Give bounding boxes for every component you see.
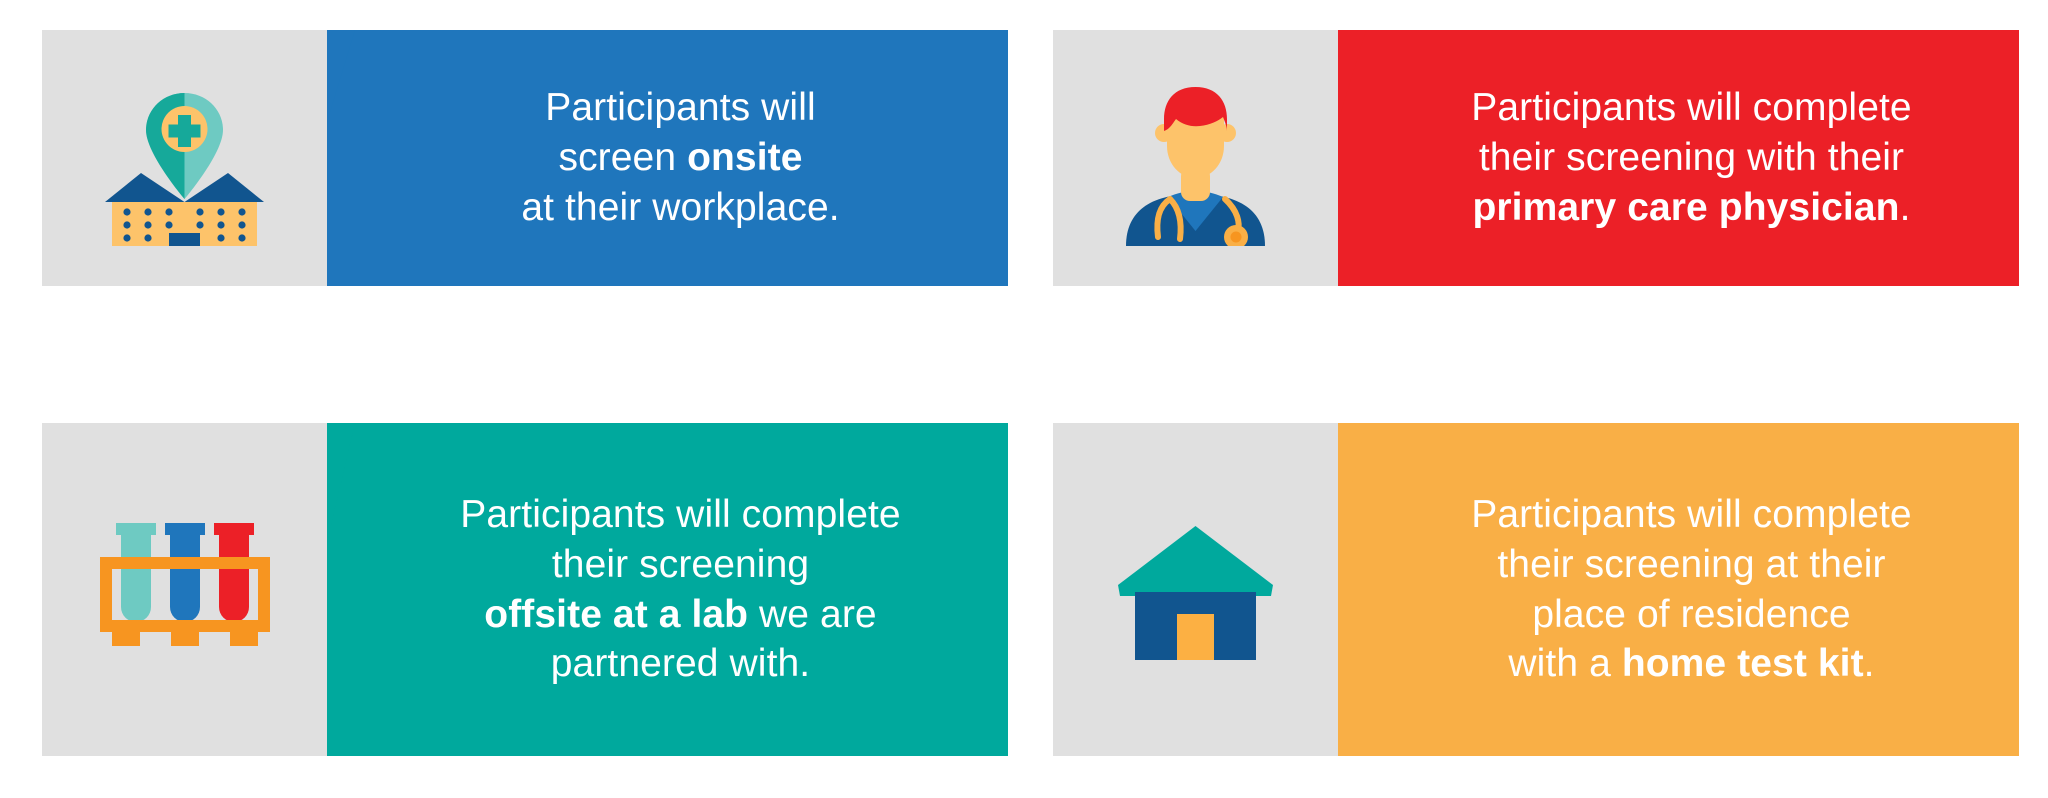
plain-text: their screening at their	[1497, 543, 1885, 586]
card-text-line: offsite at a lab we are	[460, 590, 900, 640]
icon-pane-offsite-lab	[42, 423, 327, 756]
icon-pane-onsite-workplace	[42, 30, 327, 286]
card-text-line: primary care physician.	[1471, 183, 1911, 233]
plain-text: partnered with.	[551, 642, 810, 685]
card-text-line: at their workplace.	[521, 183, 839, 233]
doctor-icon	[1108, 71, 1283, 246]
info-card-grid: Participants willscreen onsiteat their w…	[0, 0, 2048, 798]
color-pane-offsite-lab: Participants will completetheir screenin…	[327, 423, 1008, 756]
emphasis-text: offsite at a lab	[484, 593, 748, 636]
plain-text: their screening with their	[1479, 136, 1904, 179]
plain-text: with a	[1508, 642, 1621, 685]
card-text-line: Participants will complete	[460, 490, 900, 540]
emphasis-text: home test kit	[1622, 642, 1864, 685]
color-pane-onsite-workplace: Participants willscreen onsiteat their w…	[327, 30, 1008, 286]
card-text-line: Participants will complete	[1471, 83, 1911, 133]
card-primary-care-physician[interactable]: Participants will completetheir screenin…	[1053, 30, 2019, 286]
test-tube-rack-icon	[95, 517, 275, 662]
plain-text: place of residence	[1532, 593, 1850, 636]
card-text-line: Participants will complete	[1471, 490, 1911, 540]
card-onsite-workplace[interactable]: Participants willscreen onsiteat their w…	[42, 30, 1008, 286]
plain-text: their screening	[552, 543, 809, 586]
house-icon	[1113, 520, 1278, 660]
card-text-line: partnered with.	[460, 639, 900, 689]
plain-text: .	[1900, 186, 1911, 229]
card-text-line: Participants will	[521, 83, 839, 133]
map-pin-hospital-icon	[97, 71, 272, 246]
card-home-test-kit[interactable]: Participants will completetheir screenin…	[1053, 423, 2019, 756]
plain-text: .	[1864, 642, 1875, 685]
card-text-onsite-workplace: Participants willscreen onsiteat their w…	[521, 83, 839, 233]
card-text-line: place of residence	[1471, 590, 1911, 640]
card-offsite-lab[interactable]: Participants will completetheir screenin…	[42, 423, 1008, 756]
plain-text: screen	[558, 136, 687, 179]
card-text-line: their screening	[460, 540, 900, 590]
emphasis-text: primary care physician	[1472, 186, 1899, 229]
card-text-line: their screening with their	[1471, 133, 1911, 183]
card-text-line: with a home test kit.	[1471, 639, 1911, 689]
card-text-offsite-lab: Participants will completetheir screenin…	[460, 490, 900, 690]
emphasis-text: onsite	[687, 136, 802, 179]
card-text-line: their screening at their	[1471, 540, 1911, 590]
card-text-home-test-kit: Participants will completetheir screenin…	[1471, 490, 1911, 690]
plain-text: at their workplace.	[521, 186, 839, 229]
plain-text: Participants will complete	[1471, 493, 1911, 536]
plain-text: Participants will complete	[460, 493, 900, 536]
card-text-line: screen onsite	[521, 133, 839, 183]
icon-pane-home-test-kit	[1053, 423, 1338, 756]
color-pane-home-test-kit: Participants will completetheir screenin…	[1338, 423, 2019, 756]
icon-pane-primary-care-physician	[1053, 30, 1338, 286]
plain-text: Participants will complete	[1471, 86, 1911, 129]
plain-text: Participants will	[545, 86, 815, 129]
card-text-primary-care-physician: Participants will completetheir screenin…	[1471, 83, 1911, 233]
color-pane-primary-care-physician: Participants will completetheir screenin…	[1338, 30, 2019, 286]
plain-text: we are	[748, 593, 877, 636]
